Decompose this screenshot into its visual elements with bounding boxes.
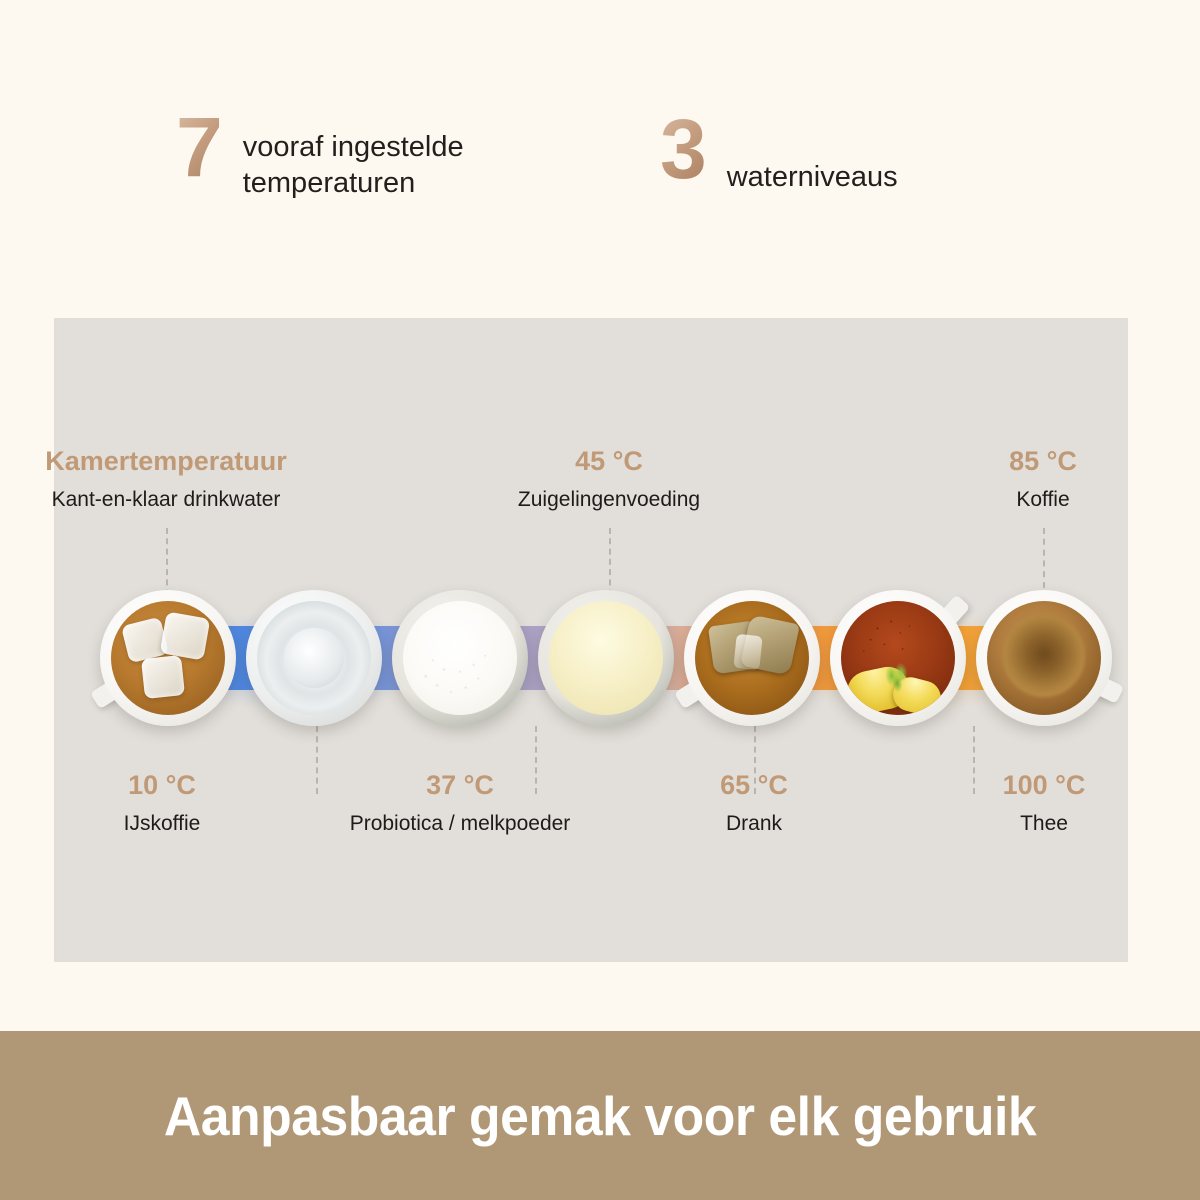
preset-desc-85: Koffie (883, 487, 1200, 512)
stat-preset-temperatures: 7 vooraf ingestelde temperaturen (176, 108, 464, 201)
preset-label-85: 85 °C Koffie (883, 446, 1200, 512)
tea-bag-highlight (733, 634, 762, 671)
milk-bubbles-icon (403, 601, 517, 715)
preset-label-10: 10 °C IJskoffie (2, 770, 322, 836)
preset-temp-room-temperature: Kamertemperatuur (6, 446, 326, 477)
temperature-chart-panel: Kamertemperatuur Kant-en-klaar drinkwate… (54, 318, 1128, 962)
preset-desc-37: Probiotica / melkpoeder (300, 811, 620, 836)
preset-temp-100: 100 °C (884, 770, 1200, 801)
preset-desc-10: IJskoffie (2, 811, 322, 836)
liquid-iced-coffee (111, 601, 225, 715)
crema-icon (1003, 615, 1085, 697)
liquid-formula (549, 601, 663, 715)
liquid-water (257, 601, 371, 715)
cup-water (238, 582, 390, 734)
preset-label-45: 45 °C Zuigelingenvoeding (449, 446, 769, 512)
ice-cube-icon (141, 655, 185, 699)
stat-label-preset-temperatures: vooraf ingestelde temperaturen (243, 130, 464, 201)
preset-temp-45: 45 °C (449, 446, 769, 477)
cup-lemon-tea (822, 582, 974, 734)
preset-temp-10: 10 °C (2, 770, 322, 801)
mint-leaf-icon (882, 662, 915, 695)
preset-desc-45: Zuigelingenvoeding (449, 487, 769, 512)
stat-label-line1: vooraf ingestelde (243, 131, 464, 163)
stat-number-3: 3 (660, 110, 705, 190)
preset-label-37: 37 °C Probiotica / melkpoeder (300, 770, 620, 836)
liquid-milk (403, 601, 517, 715)
cup-row (54, 318, 1128, 962)
preset-temp-37: 37 °C (300, 770, 620, 801)
preset-label-room-temperature: Kamertemperatuur Kant-en-klaar drinkwate… (6, 446, 326, 512)
cup-milk (384, 582, 536, 734)
preset-temp-85: 85 °C (883, 446, 1200, 477)
stat-number-7: 7 (176, 108, 221, 188)
stat-label-line2: temperaturen (243, 167, 416, 199)
preset-label-65: 65 °C Drank (594, 770, 914, 836)
cup-formula (530, 582, 682, 734)
liquid-espresso (987, 601, 1101, 715)
stat-water-levels: 3 waterniveaus (660, 110, 898, 196)
cup-iced-coffee (92, 582, 244, 734)
banner-headline: Aanpasbaar gemak voor elk gebruik (164, 1084, 1036, 1148)
cup-espresso (968, 582, 1120, 734)
ice-cube-icon (160, 611, 211, 660)
liquid-tea (695, 601, 809, 715)
preset-desc-room-temperature: Kant-en-klaar drinkwater (6, 487, 326, 512)
preset-desc-100: Thee (884, 811, 1200, 836)
liquid-lemon-tea (841, 601, 955, 715)
preset-temp-65: 65 °C (594, 770, 914, 801)
preset-desc-65: Drank (594, 811, 914, 836)
preset-label-100: 100 °C Thee (884, 770, 1200, 836)
cup-tea-bag (676, 582, 828, 734)
stats-row: 7 vooraf ingestelde temperaturen 3 water… (0, 0, 1200, 300)
stat-label-water-levels: waterniveaus (727, 160, 898, 196)
bottom-banner: Aanpasbaar gemak voor elk gebruik (0, 1031, 1200, 1200)
